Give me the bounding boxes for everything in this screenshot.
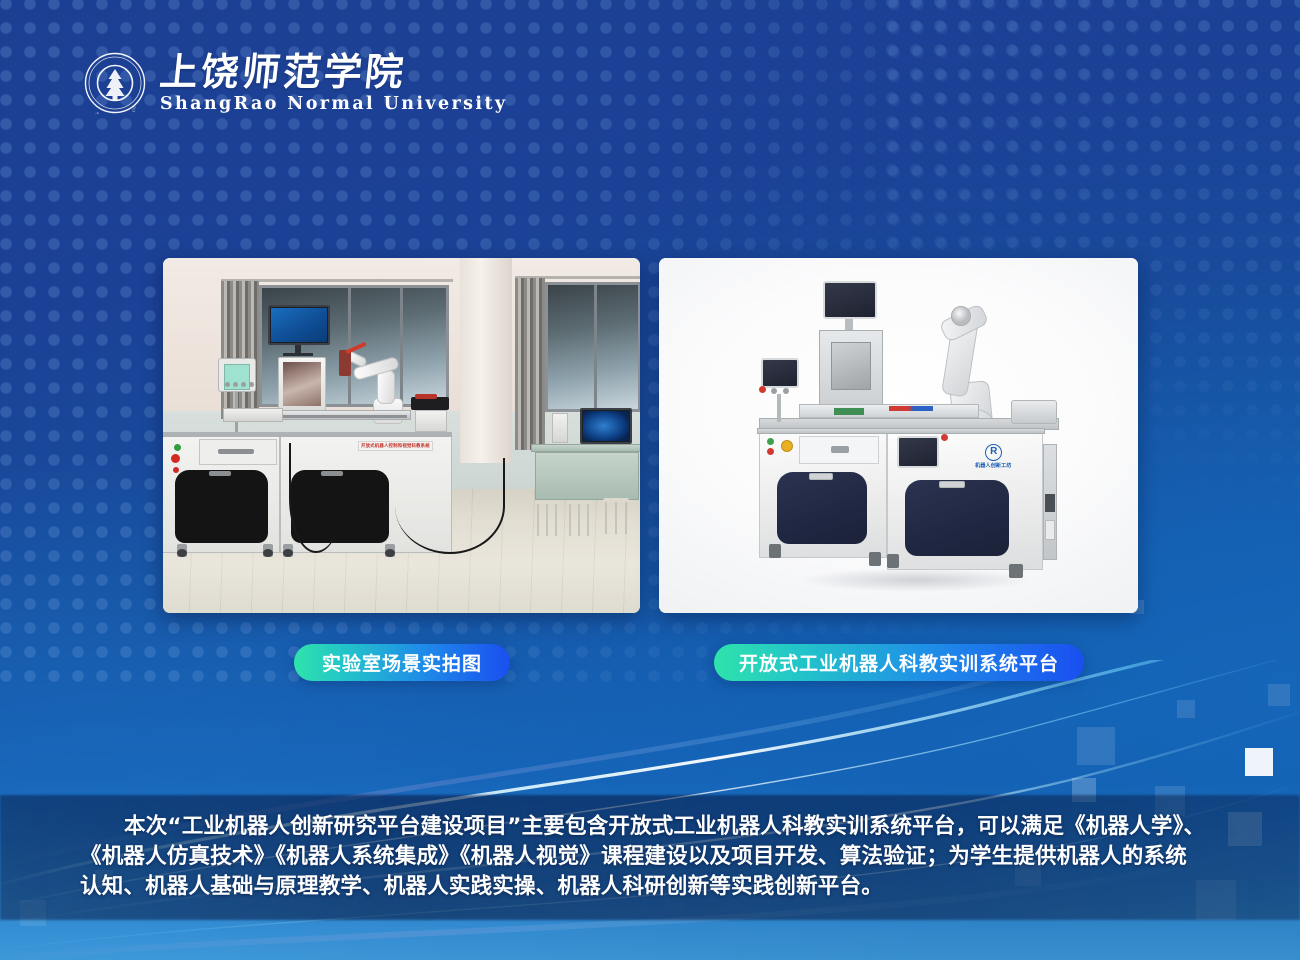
university-logo: 上饶师范学院 SHANGRAO NORMAL COLLEGE 上饶师范学院 Sh… bbox=[84, 52, 508, 114]
laboratory-scene-photo[interactable]: 开放式机器人控制和视觉科教系统 bbox=[163, 258, 640, 613]
caption-pill-platform[interactable]: 开放式工业机器人科教实训系统平台 bbox=[714, 644, 1084, 681]
paragraph-line-2: 《机器人仿真技术》《机器人系统集成》《机器人视觉》课程建设以及项目开发、算法验证… bbox=[80, 842, 1220, 872]
paragraph-line-1: 本次“工业机器人创新研究平台建设项目”主要包含开放式工业机器人科教实训系统平台，… bbox=[80, 812, 1220, 842]
paragraph-line-3: 认知、机器人基础与原理教学、机器人实践实操、机器人科研创新等实践创新平台。 bbox=[80, 872, 1220, 902]
logo-name-en: ShangRao Normal University bbox=[160, 94, 508, 114]
logo-wordmark: 上饶师范学院 ShangRao Normal University bbox=[160, 52, 508, 114]
machine-label: 开放式机器人控制和视觉科教系统 bbox=[358, 441, 433, 451]
caption-pill-laboratory[interactable]: 实验室场景实拍图 bbox=[294, 644, 510, 681]
training-platform-render[interactable]: 机器人创新工坊 bbox=[659, 258, 1138, 613]
body-paragraph: 本次“工业机器人创新研究平台建设项目”主要包含开放式工业机器人科教实训系统平台，… bbox=[80, 812, 1220, 902]
product-logo-text: 机器人创新工坊 bbox=[975, 462, 1011, 469]
product-logo: 机器人创新工坊 bbox=[975, 444, 1011, 469]
slide-canvas: 上饶师范学院 SHANGRAO NORMAL COLLEGE 上饶师范学院 Sh… bbox=[0, 0, 1300, 960]
university-seal-icon: 上饶师范学院 SHANGRAO NORMAL COLLEGE bbox=[84, 52, 146, 114]
logo-name-cn: 上饶师范学院 bbox=[158, 52, 510, 92]
product-logo-ring-icon bbox=[985, 444, 1002, 461]
